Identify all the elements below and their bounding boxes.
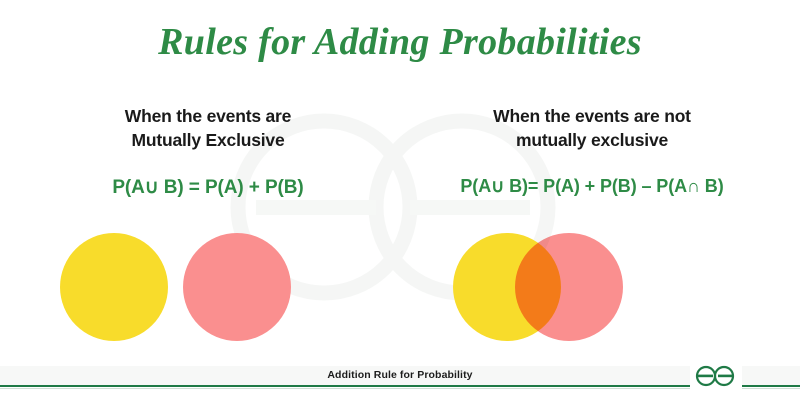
venn-circle-b-pink	[515, 233, 623, 341]
formula-not-mutually-exclusive: P(A∪ B)= P(A) + P(B) – P(A∩ B)	[412, 176, 772, 197]
panel-heading-right-line1: When the events are not	[493, 106, 691, 126]
panel-heading-left-line2: Mutually Exclusive	[28, 128, 388, 152]
page-title: Rules for Adding Probabilities	[0, 20, 800, 64]
panel-mutually-exclusive: When the events are Mutually Exclusive P…	[28, 104, 388, 199]
footer-caption: Addition Rule for Probability	[0, 369, 800, 381]
panel-heading-right-line2: mutually exclusive	[412, 128, 772, 152]
venn-diagram-disjoint	[40, 230, 320, 350]
footer-divider-soft	[0, 388, 800, 389]
gfg-logo[interactable]	[690, 362, 742, 390]
infographic-slide: Rules for Adding Probabilities When the …	[0, 0, 800, 400]
venn-diagram-overlapping	[430, 230, 710, 350]
formula-mutually-exclusive: P(A∪ B) = P(A) + P(B)	[28, 176, 388, 199]
gfg-logo-icon	[690, 362, 742, 390]
panel-heading-left-line1: When the events are	[125, 106, 291, 126]
footer-divider	[0, 385, 800, 387]
panel-heading-left: When the events are Mutually Exclusive	[28, 104, 388, 152]
panel-not-mutually-exclusive: When the events are not mutually exclusi…	[412, 104, 772, 197]
venn-circle-a-yellow	[60, 233, 168, 341]
panel-heading-right: When the events are not mutually exclusi…	[412, 104, 772, 152]
venn-circle-b-pink	[183, 233, 291, 341]
